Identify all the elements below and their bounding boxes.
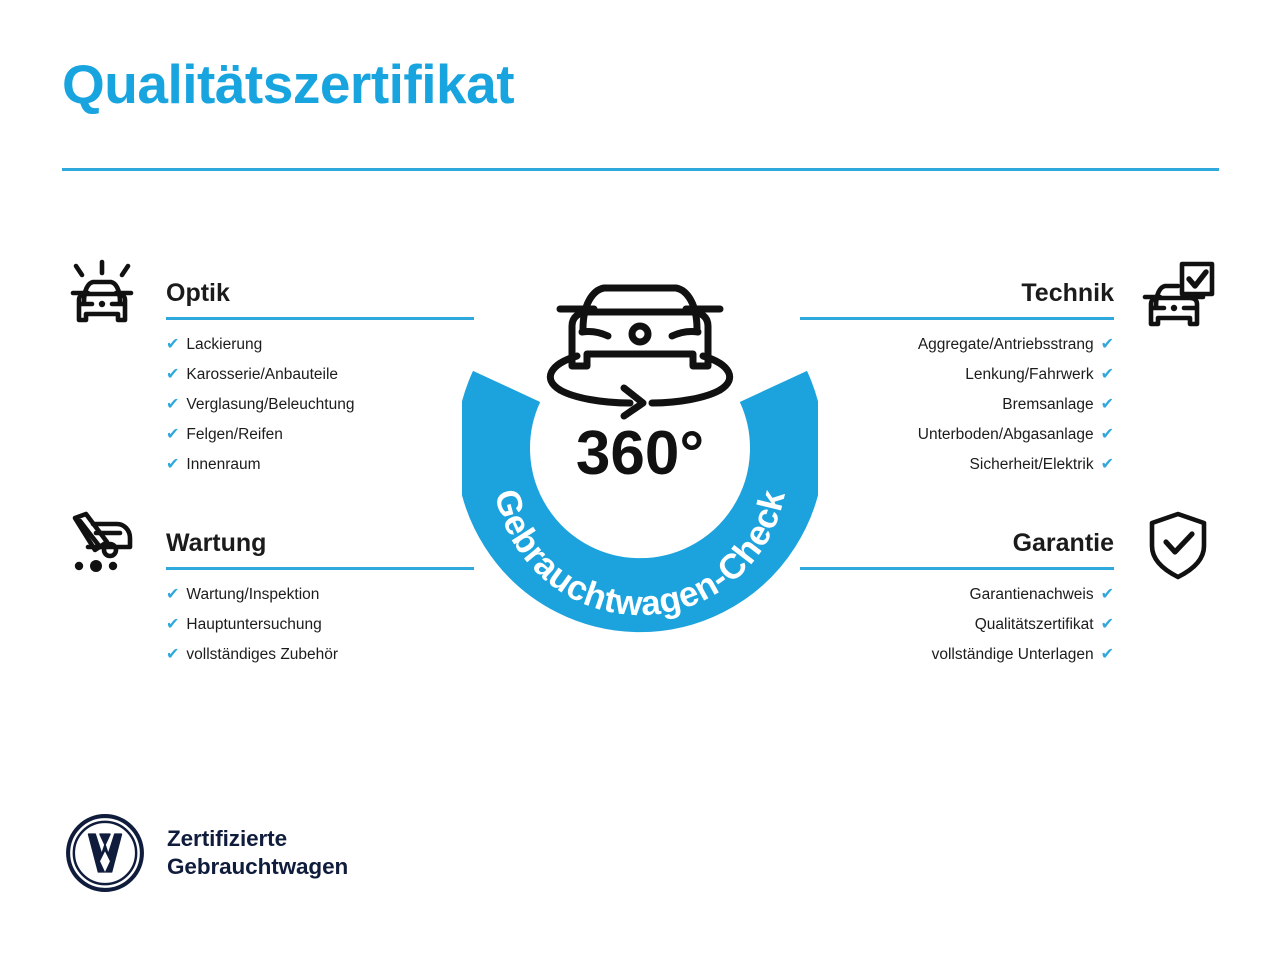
section-optik-header: Optik [62,258,474,330]
section-optik-list: ✔ Lackierung ✔ Karosserie/Anbauteile ✔ V… [62,330,474,480]
list-item-label: Wartung/Inspektion [186,580,319,610]
vw-logo-icon [64,812,146,894]
list-item-label: Lackierung [186,330,262,360]
list-item-label: vollständige Unterlagen [932,640,1094,670]
car-service-pencil-icon [62,506,142,586]
list-item-label: Bremsanlage [1002,390,1093,420]
footer-logo: Zertifizierte Gebrauchtwagen [64,812,348,894]
section-technik-list: Aggregate/Antriebsstrang ✔ Lenkung/Fahrw… [800,330,1218,480]
section-technik-underline [800,317,1114,320]
list-item-label: Innenraum [186,450,260,480]
check-icon: ✔ [1101,330,1114,360]
list-item: Garantienachweis ✔ [800,580,1114,610]
list-item-label: Hauptuntersuchung [186,610,321,640]
footer-logo-line1: Zertifizierte [167,826,287,851]
car-front-shine-icon [62,256,142,336]
list-item: ✔ Hauptuntersuchung [166,610,474,640]
list-item: Lenkung/Fahrwerk ✔ [800,360,1114,390]
list-item-label: Unterboden/Abgasanlage [918,420,1094,450]
gebrauchtwagen-check-badge: Gebrauchtwagen-Check 360° [462,246,818,638]
section-wartung-title: Wartung [166,529,266,558]
check-icon: ✔ [166,360,179,390]
section-garantie-title: Garantie [1013,529,1114,558]
section-garantie-list: Garantienachweis ✔ Qualitätszertifikat ✔… [800,580,1218,670]
page-title: Qualitätszertifikat [62,56,514,114]
list-item: ✔ Wartung/Inspektion [166,580,474,610]
footer-logo-text: Zertifizierte Gebrauchtwagen [167,825,348,881]
list-item-label: Karosserie/Anbauteile [186,360,338,390]
section-optik-underline [166,317,474,320]
check-icon: ✔ [1101,580,1114,610]
list-item-label: vollständiges Zubehör [186,640,338,670]
section-garantie: Garantie Garantienachweis ✔ Qualitätszer… [800,508,1218,670]
section-garantie-header: Garantie [800,508,1218,580]
list-item: vollständige Unterlagen ✔ [800,640,1114,670]
check-icon: ✔ [1101,390,1114,420]
check-icon: ✔ [166,580,179,610]
list-item-label: Garantienachweis [970,580,1094,610]
list-item: Unterboden/Abgasanlage ✔ [800,420,1114,450]
check-icon: ✔ [1101,640,1114,670]
check-icon: ✔ [1101,420,1114,450]
check-icon: ✔ [166,420,179,450]
list-item-label: Felgen/Reifen [186,420,283,450]
footer-logo-line2: Gebrauchtwagen [167,854,348,879]
section-technik-header: Technik [800,258,1218,330]
check-icon: ✔ [1101,610,1114,640]
list-item: Sicherheit/Elektrik ✔ [800,450,1114,480]
list-item-label: Aggregate/Antriebsstrang [918,330,1094,360]
list-item: Bremsanlage ✔ [800,390,1114,420]
section-optik: Optik ✔ Lackierung ✔ Karosserie/Anbautei… [62,258,474,480]
list-item-label: Qualitätszertifikat [975,610,1094,640]
check-icon: ✔ [166,330,179,360]
check-icon: ✔ [166,610,179,640]
list-item: ✔ Lackierung [166,330,474,360]
list-item: ✔ Innenraum [166,450,474,480]
section-wartung-list: ✔ Wartung/Inspektion ✔ Hauptuntersuchung… [62,580,474,670]
list-item: ✔ Verglasung/Beleuchtung [166,390,474,420]
check-icon: ✔ [1101,360,1114,390]
check-icon: ✔ [166,450,179,480]
list-item-label: Sicherheit/Elektrik [970,450,1094,480]
car-rotate-360-icon [550,288,729,416]
badge-center-label: 360° [576,419,704,488]
check-icon: ✔ [166,390,179,420]
list-item: Qualitätszertifikat ✔ [800,610,1114,640]
section-wartung-header: Wartung [62,508,474,580]
check-icon: ✔ [166,640,179,670]
list-item: Aggregate/Antriebsstrang ✔ [800,330,1114,360]
check-icon: ✔ [1101,450,1114,480]
list-item: ✔ Karosserie/Anbauteile [166,360,474,390]
section-technik-title: Technik [1021,279,1114,308]
section-wartung: Wartung ✔ Wartung/Inspektion ✔ Hauptunte… [62,508,474,670]
shield-check-icon [1138,506,1218,586]
list-item: ✔ Felgen/Reifen [166,420,474,450]
list-item: ✔ vollständiges Zubehör [166,640,474,670]
section-technik: Technik Aggregate/Antriebsstrang ✔ Lenku… [800,258,1218,480]
list-item-label: Verglasung/Beleuchtung [186,390,354,420]
section-garantie-underline [800,567,1114,570]
section-wartung-underline [166,567,474,570]
list-item-label: Lenkung/Fahrwerk [965,360,1093,390]
title-divider [62,168,1219,171]
car-front-checkbox-icon [1138,256,1218,336]
section-optik-title: Optik [166,279,230,308]
